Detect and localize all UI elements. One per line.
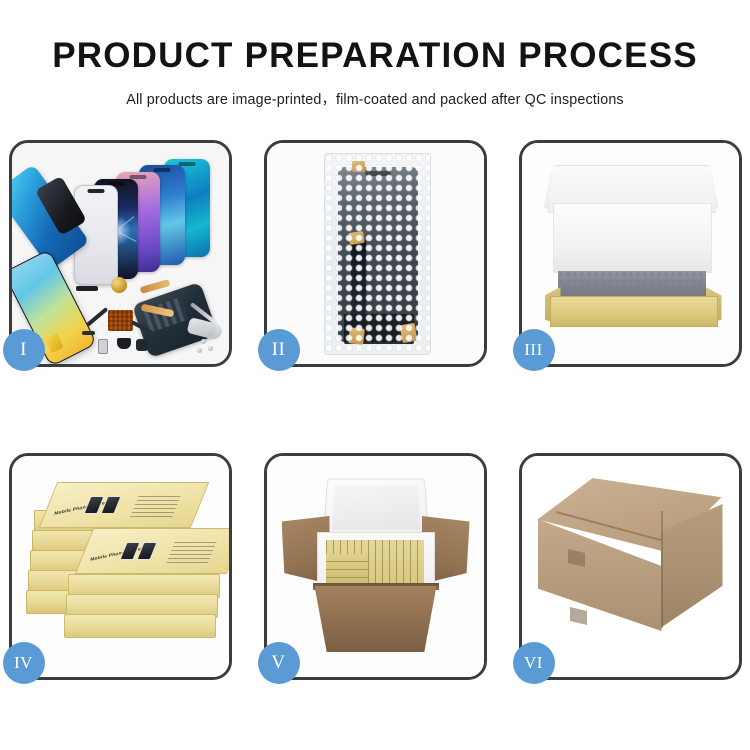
step-5-image <box>267 456 484 677</box>
notch-icon <box>87 189 104 193</box>
step-badge-2: II <box>258 329 300 371</box>
box-thumbnails <box>119 542 157 560</box>
step-6-image <box>522 456 739 677</box>
foam-sheet-back <box>553 203 712 273</box>
notch-icon <box>153 168 170 172</box>
phone-parts-icon <box>12 143 229 364</box>
step-badge-3: III <box>513 329 555 371</box>
page-title: PRODUCT PREPARATION PROCESS <box>0 38 750 73</box>
step-badge-5: V <box>258 642 300 684</box>
step-badge-4: IV <box>3 642 45 684</box>
logic-board-chip-part <box>108 310 133 331</box>
flex-cable-part-a <box>139 279 170 294</box>
foam-box-lid <box>322 479 429 539</box>
process-step-5: V <box>264 453 487 680</box>
top-box-lid-front: Mobile Phone Spare Parts <box>74 528 228 574</box>
foam-padding-texture <box>558 271 706 299</box>
process-step-3: III <box>519 140 742 367</box>
step-badge-6: VI <box>513 642 555 684</box>
process-step-1: I <box>9 140 232 367</box>
bubble-texture <box>325 154 430 354</box>
camera-part <box>136 339 148 351</box>
carton-tape-patch <box>570 607 587 625</box>
screw-part <box>201 339 206 344</box>
camera-module-part <box>111 277 127 293</box>
packed-carton-icon <box>267 456 484 677</box>
speaker-bar-part <box>76 286 98 291</box>
screw-part <box>208 346 213 351</box>
page-header: PRODUCT PREPARATION PROCESS All products… <box>0 0 750 109</box>
screw-part <box>197 348 202 353</box>
bubble-wrap-bag <box>324 153 431 355</box>
button-part <box>82 331 95 335</box>
box-thumbnails <box>83 496 121 514</box>
process-steps-grid: I II <box>0 140 750 680</box>
box-spec-text-block <box>166 539 218 563</box>
ribbon-cable-part <box>85 307 107 327</box>
step-2-image <box>267 143 484 364</box>
process-step-2: II <box>264 140 487 367</box>
process-step-4: Mobile Phone Spare Parts Mobile Phone Sp… <box>9 453 232 680</box>
bubble-wrap-icon <box>267 143 484 364</box>
sealed-carton-icon <box>522 456 739 677</box>
step-1-image <box>12 143 229 364</box>
step-3-image <box>522 143 739 364</box>
open-foam-box-icon <box>522 143 739 364</box>
box-front-panel <box>550 296 718 327</box>
page-subtitle: All products are image-printed，film-coat… <box>0 73 750 109</box>
step-4-image: Mobile Phone Spare Parts Mobile Phone Sp… <box>12 456 229 677</box>
stacked-box-front <box>64 614 216 638</box>
earpiece-part <box>117 338 131 349</box>
packed-yellow-boxes <box>326 540 424 586</box>
step-badge-1: I <box>3 329 45 371</box>
stacked-boxes-icon: Mobile Phone Spare Parts Mobile Phone Sp… <box>12 456 229 677</box>
top-box-lid-back: Mobile Phone Spare Parts <box>38 482 209 528</box>
carton-vertical-edge <box>661 511 663 628</box>
process-step-6: VI <box>519 453 742 680</box>
sim-tray-part <box>98 339 108 354</box>
carton-body <box>315 586 437 652</box>
box-spec-text-block <box>130 493 182 517</box>
